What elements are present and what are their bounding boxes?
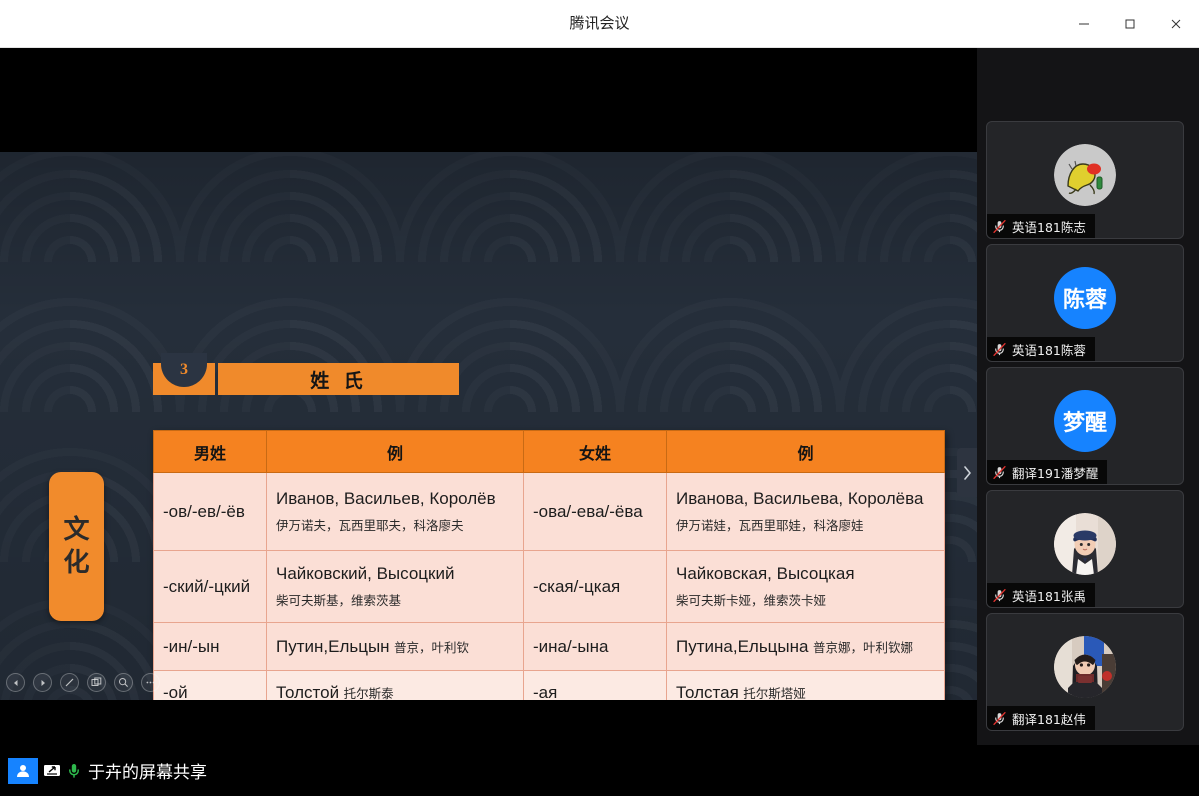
participant-name: 英语181张禹 bbox=[1012, 586, 1086, 605]
microphone-muted-icon bbox=[992, 588, 1007, 603]
slide-heading: 3 姓 氏 bbox=[153, 363, 459, 395]
cell-female-example-ru: Иванова, Васильева, Королёва bbox=[676, 489, 923, 508]
maximize-button[interactable] bbox=[1107, 0, 1153, 48]
participant-name-label: 英语181陈志 bbox=[987, 214, 1095, 238]
cell-female-example-zh: 托尔斯塔娅 bbox=[743, 686, 806, 700]
surnames-table: 男姓 例 女姓 例 -ов/-ев/-ёв Иванов, Васильев, … bbox=[153, 430, 945, 700]
microphone-icon[interactable] bbox=[63, 760, 85, 782]
cell-male-example-ru: Чайковский, Высоцкий bbox=[276, 564, 454, 583]
participant-tile[interactable]: 英语181张禹 bbox=[986, 490, 1184, 608]
cell-male-example-zh: 伊万诺夫，瓦西里耶夫，科洛廖夫 bbox=[276, 515, 514, 534]
microphone-muted-icon bbox=[992, 219, 1007, 234]
table-row: -ов/-ев/-ёв Иванов, Васильев, Королёв 伊万… bbox=[154, 473, 945, 551]
cell-female-example-ru: Чайковская, Высоцкая bbox=[676, 564, 855, 583]
photo-girl-hat-avatar-icon bbox=[1054, 513, 1116, 575]
cell-female-suffix: -ова/-ева/-ёва bbox=[524, 473, 667, 551]
cell-male-example: Путин,Ельцын 普京，叶利钦 bbox=[267, 623, 524, 671]
participant-name-label: 翻译191潘梦醒 bbox=[987, 460, 1107, 484]
avatar bbox=[1054, 144, 1116, 206]
share-screen-icon[interactable] bbox=[41, 760, 63, 782]
culture-tag-line1: 文 bbox=[63, 514, 89, 547]
avatar bbox=[1054, 636, 1116, 698]
participant-video-panel: 英语181陈志 陈蓉 英语181陈蓉 梦醒 bbox=[977, 48, 1199, 745]
participants-icon[interactable] bbox=[8, 758, 38, 784]
photo-girl-scarf-avatar-icon bbox=[1054, 636, 1116, 698]
cell-male-suffix: -ский/-цкий bbox=[154, 551, 267, 623]
heading-number: 3 bbox=[161, 353, 207, 387]
cell-male-example: Иванов, Васильев, Королёв 伊万诺夫，瓦西里耶夫，科洛廖… bbox=[267, 473, 524, 551]
chevron-right-icon bbox=[963, 466, 972, 480]
close-button[interactable] bbox=[1153, 0, 1199, 48]
participant-name-label: 翻译181赵伟 bbox=[987, 706, 1095, 730]
cell-male-suffix: -ой bbox=[154, 671, 267, 701]
cell-female-example-zh: 伊万诺娃，瓦西里耶娃，科洛廖娃 bbox=[676, 515, 935, 534]
cell-male-example: Чайковский, Высоцкий 柴可夫斯基，维索茨基 bbox=[267, 551, 524, 623]
cell-male-suffix: -ин/-ын bbox=[154, 623, 267, 671]
sharing-status-text: 于卉的屏幕共享 bbox=[88, 758, 207, 783]
cell-female-example: Толстая 托尔斯塔娅 bbox=[667, 671, 945, 701]
heading-title: 姓 氏 bbox=[218, 363, 459, 395]
participant-tile[interactable]: 梦醒 翻译191潘梦醒 bbox=[986, 367, 1184, 485]
cell-male-example: Толстой 托尔斯泰 bbox=[267, 671, 524, 701]
cell-female-example: Иванова, Васильева, Королёва 伊万诺娃，瓦西里耶娃，… bbox=[667, 473, 945, 551]
table-header-male-suffix: 男姓 bbox=[154, 431, 267, 473]
participant-name: 翻译181赵伟 bbox=[1012, 709, 1086, 728]
cell-female-suffix: -ая bbox=[524, 671, 667, 701]
cell-male-example-ru: Иванов, Васильев, Королёв bbox=[276, 489, 496, 508]
sharing-status-bar: 于卉的屏幕共享 bbox=[0, 745, 1199, 796]
cell-female-example: Путина,Ельцына 普京娜，叶利钦娜 bbox=[667, 623, 945, 671]
cell-female-example-ru: Толстая bbox=[676, 683, 739, 700]
microphone-muted-icon bbox=[992, 465, 1007, 480]
presentation-slide: 3 姓 氏 文 化 男姓 例 女姓 例 bbox=[0, 152, 977, 700]
table-header-female-example: 例 bbox=[667, 431, 945, 473]
window-titlebar: 腾讯会议 bbox=[0, 0, 1199, 48]
window-title: 腾讯会议 bbox=[0, 0, 1199, 48]
participant-tile[interactable]: 翻译181赵伟 bbox=[986, 613, 1184, 731]
avatar: 梦醒 bbox=[1054, 390, 1116, 452]
table-row: -ой Толстой 托尔斯泰 -ая Толстая 托尔斯塔娅 bbox=[154, 671, 945, 701]
culture-side-tag: 文 化 bbox=[49, 472, 104, 621]
window-controls bbox=[1061, 0, 1199, 48]
cell-female-suffix: -ская/-цкая bbox=[524, 551, 667, 623]
minimize-button[interactable] bbox=[1061, 0, 1107, 48]
table-header-male-example: 例 bbox=[267, 431, 524, 473]
participant-name-label: 英语181陈蓉 bbox=[987, 337, 1095, 361]
table-row: -ский/-цкий Чайковский, Высоцкий 柴可夫斯基，维… bbox=[154, 551, 945, 623]
zoom-icon[interactable] bbox=[114, 673, 133, 692]
participant-name-label: 英语181张禹 bbox=[987, 583, 1095, 607]
shared-screen-area: 3 姓 氏 文 化 男姓 例 女姓 例 bbox=[0, 48, 977, 700]
participant-tile[interactable]: 陈蓉 英语181陈蓉 bbox=[986, 244, 1184, 362]
more-options-icon[interactable] bbox=[141, 673, 160, 692]
participant-name: 英语181陈志 bbox=[1012, 217, 1086, 236]
table-header-row: 男姓 例 女姓 例 bbox=[154, 431, 945, 473]
table-row: -ин/-ын Путин,Ельцын 普京，叶利钦 -ина/-ына Пу… bbox=[154, 623, 945, 671]
microphone-muted-icon bbox=[992, 342, 1007, 357]
meeting-body: 3 姓 氏 文 化 男姓 例 女姓 例 bbox=[0, 48, 1199, 796]
cell-female-example-ru: Путина,Ельцына bbox=[676, 637, 808, 656]
cell-female-suffix: -ина/-ына bbox=[524, 623, 667, 671]
table-header-female-suffix: 女姓 bbox=[524, 431, 667, 473]
participant-name: 英语181陈蓉 bbox=[1012, 340, 1086, 359]
cell-male-example-zh: 普京，叶利钦 bbox=[394, 640, 469, 655]
pen-icon[interactable] bbox=[60, 673, 79, 692]
cartoon-frog-avatar-icon bbox=[1054, 144, 1116, 206]
avatar bbox=[1054, 513, 1116, 575]
cell-female-example-zh: 普京娜，叶利钦娜 bbox=[813, 640, 913, 655]
participant-name: 翻译191潘梦醒 bbox=[1012, 463, 1098, 482]
collapse-panel-handle[interactable] bbox=[957, 448, 977, 497]
cell-male-example-zh: 托尔斯泰 bbox=[344, 686, 394, 700]
ppt-floating-toolbar bbox=[6, 673, 160, 692]
microphone-muted-icon bbox=[992, 711, 1007, 726]
next-slide-icon[interactable] bbox=[33, 673, 52, 692]
cell-male-example-ru: Путин,Ельцын bbox=[276, 637, 390, 656]
cell-female-example: Чайковская, Высоцкая 柴可夫斯卡娅，维索茨卡娅 bbox=[667, 551, 945, 623]
previous-slide-icon[interactable] bbox=[6, 673, 25, 692]
participant-tile[interactable]: 英语181陈志 bbox=[986, 121, 1184, 239]
all-slides-icon[interactable] bbox=[87, 673, 106, 692]
culture-tag-line2: 化 bbox=[63, 547, 89, 580]
cell-male-example-ru: Толстой bbox=[276, 683, 339, 700]
cell-male-suffix: -ов/-ев/-ёв bbox=[154, 473, 267, 551]
avatar: 陈蓉 bbox=[1054, 267, 1116, 329]
cell-male-example-zh: 柴可夫斯基，维索茨基 bbox=[276, 590, 514, 609]
cell-female-example-zh: 柴可夫斯卡娅，维索茨卡娅 bbox=[676, 590, 935, 609]
